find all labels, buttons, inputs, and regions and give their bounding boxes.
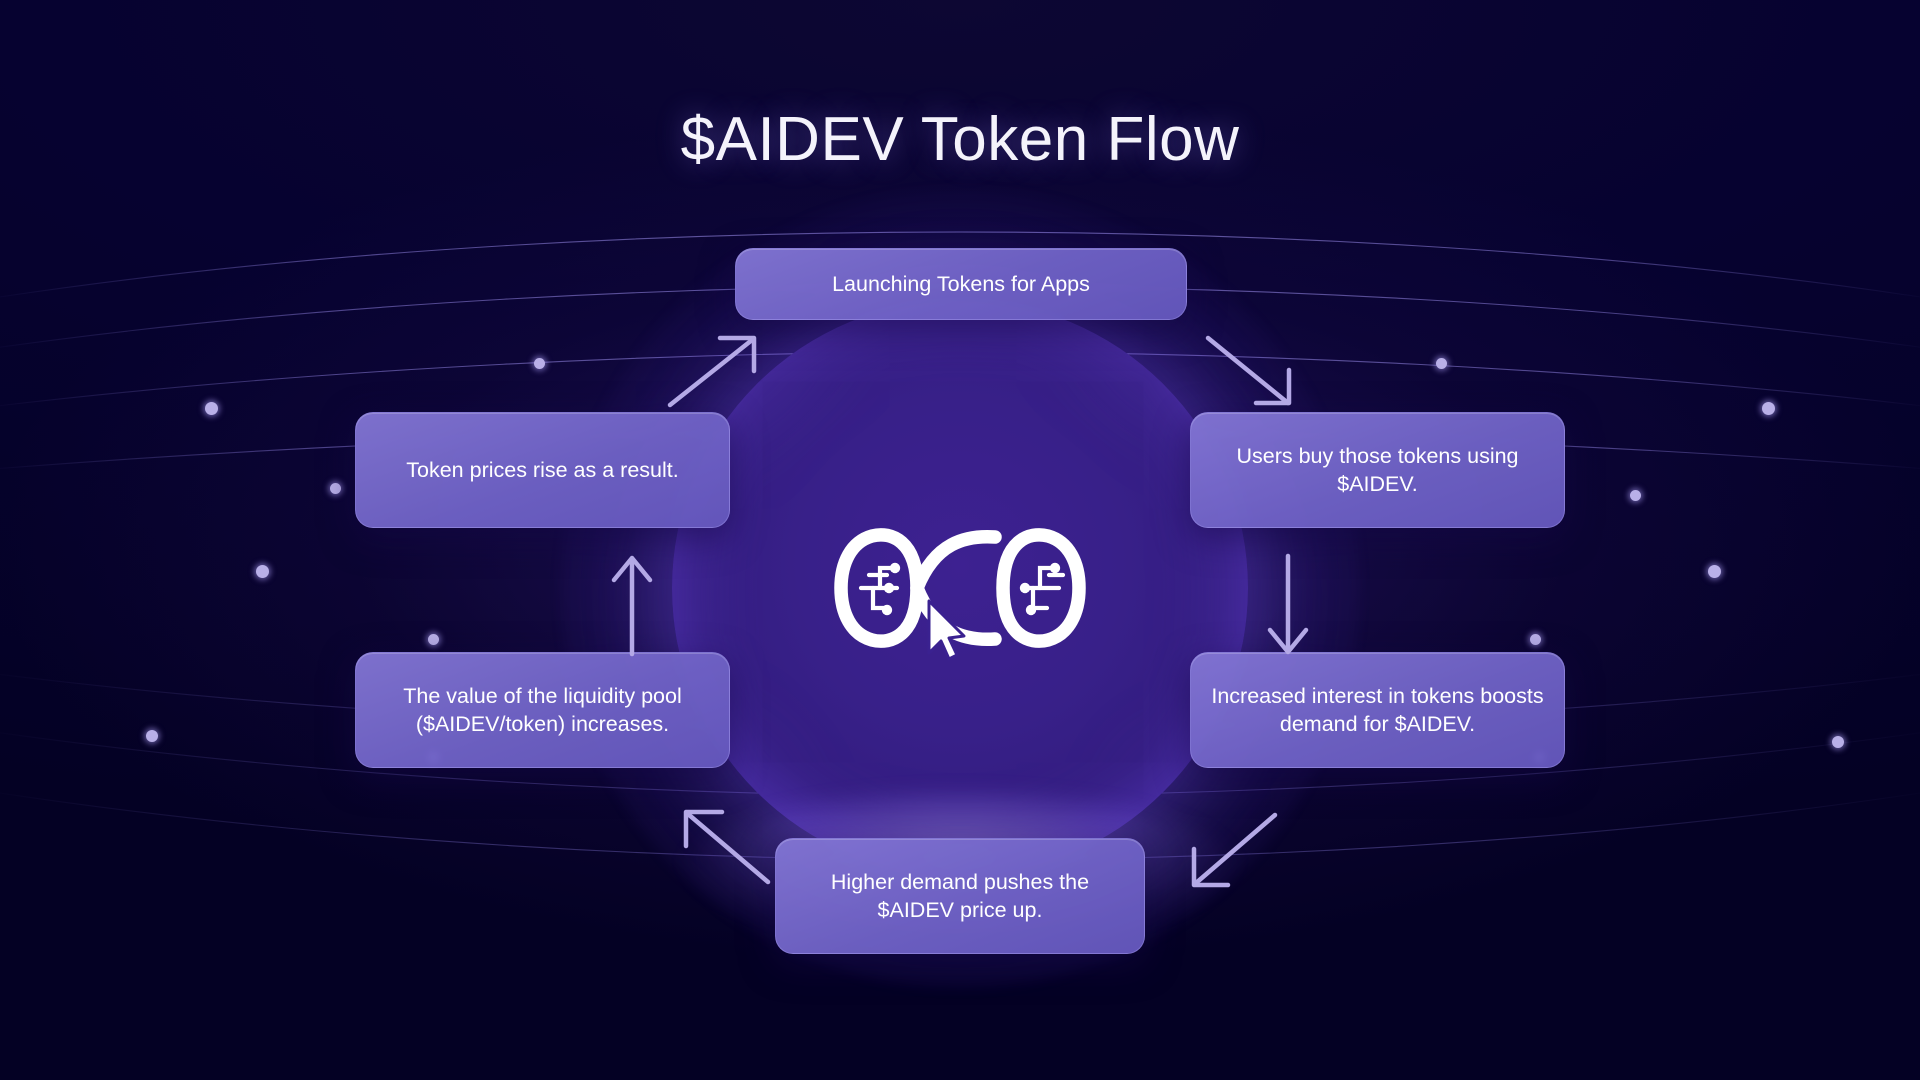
bg-node-dot [205,402,218,415]
flow-step-increased-interest[interactable]: Increased interest in tokens boosts dema… [1190,652,1565,768]
bg-node-dot [428,634,439,645]
bg-node-dot [534,358,545,369]
bg-node-dot [1630,490,1641,501]
center-orb [650,278,1270,898]
flow-step-token-prices-rise[interactable]: Token prices rise as a result. [355,412,730,528]
flow-step-higher-demand[interactable]: Higher demand pushes the $AIDEV price up… [775,838,1145,954]
bg-node-dot [1832,736,1844,748]
bg-node-dot [1530,634,1541,645]
bg-node-dot [256,565,269,578]
flow-step-label: Token prices rise as a result. [406,456,678,484]
bg-node-dot [1762,402,1775,415]
flow-step-label: Higher demand pushes the $AIDEV price up… [796,868,1124,925]
flow-step-label: Increased interest in tokens boosts dema… [1211,682,1544,739]
flow-step-label: Launching Tokens for Apps [832,270,1090,298]
flow-step-launching-tokens[interactable]: Launching Tokens for Apps [735,248,1187,320]
bg-node-dot [1436,358,1447,369]
mouse-cursor-pointer [929,601,964,659]
bg-node-dot [1708,565,1721,578]
token-flow-diagram: $AIDEV Token Flow [0,0,1920,1080]
flow-step-liquidity-pool-value[interactable]: The value of the liquidity pool ($AIDEV/… [355,652,730,768]
flow-step-users-buy-tokens[interactable]: Users buy those tokens using $AIDEV. [1190,412,1565,528]
page-title: $AIDEV Token Flow [0,104,1920,175]
flow-step-label: Users buy those tokens using $AIDEV. [1211,442,1544,499]
bg-node-dot [146,730,158,742]
bg-node-dot [330,483,341,494]
infinity-circuit-logo [825,513,1095,663]
flow-step-label: The value of the liquidity pool ($AIDEV/… [376,682,709,739]
